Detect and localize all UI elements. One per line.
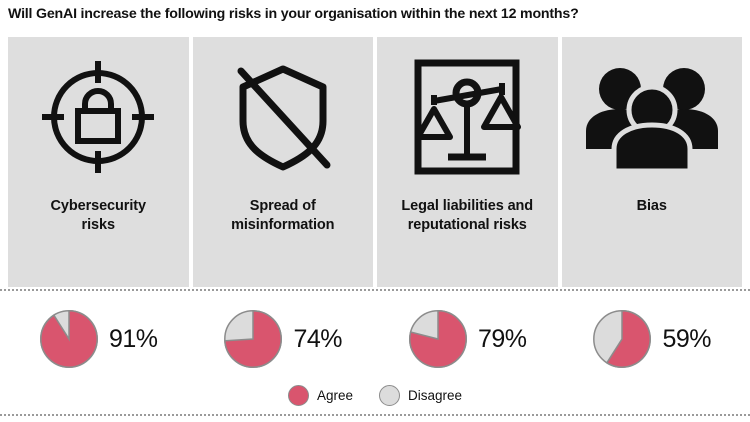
crosshair-lock-icon [8,37,189,197]
pie-cell-legal: 79% [377,300,558,378]
risk-panel-label-line2: risks [82,217,115,233]
risk-panel-label: Spread of misinformation [225,197,340,234]
pie-cell-bias: 59% [562,300,743,378]
pie-chart-bias [592,309,652,369]
risk-panel-label-line1: Spread of [250,198,316,214]
risk-panel-label: Bias [631,197,673,216]
divider-dotted-bottom [0,414,750,416]
divider-dotted-top [0,289,750,291]
pie-chart-misinformation [223,309,283,369]
risk-panel-legal: Legal liabilities and reputational risks [377,37,558,287]
legend-item-agree: Agree [288,385,353,406]
legend-label: Disagree [408,388,462,403]
risk-panel-label-line1: Bias [637,198,667,214]
chart-legend: Agree Disagree [0,385,750,406]
agree-swatch [288,385,309,406]
pie-chart-cybersecurity [39,309,99,369]
risk-panel-misinformation: Spread of misinformation [193,37,374,287]
page-title: Will GenAI increase the following risks … [8,6,746,22]
risk-panel-label-line2: reputational risks [408,217,527,233]
pie-cell-misinformation: 74% [193,300,374,378]
pie-value-label: 59% [662,325,711,354]
risk-panel-label: Cybersecurity risks [45,197,152,234]
pie-chart-legal [408,309,468,369]
shield-slash-icon [193,37,374,197]
group-of-people-icon [562,37,743,197]
scales-of-justice-icon [377,37,558,197]
disagree-swatch [379,385,400,406]
pie-chart-row: 91% 74% 79% 59% [8,300,742,378]
risk-panels-row: Cybersecurity risks Spread of misinforma… [8,37,742,287]
legend-item-disagree: Disagree [379,385,462,406]
pie-value-label: 79% [478,325,527,354]
infographic-root: Will GenAI increase the following risks … [0,0,750,422]
risk-panel-label: Legal liabilities and reputational risks [395,197,539,234]
pie-value-label: 91% [109,325,158,354]
risk-panel-cybersecurity: Cybersecurity risks [8,37,189,287]
pie-cell-cybersecurity: 91% [8,300,189,378]
legend-label: Agree [317,388,353,403]
risk-panel-bias: Bias [562,37,743,287]
risk-panel-label-line2: misinformation [231,217,334,233]
risk-panel-label-line1: Legal liabilities and [401,198,533,214]
risk-panel-label-line1: Cybersecurity [51,198,146,214]
pie-value-label: 74% [293,325,342,354]
